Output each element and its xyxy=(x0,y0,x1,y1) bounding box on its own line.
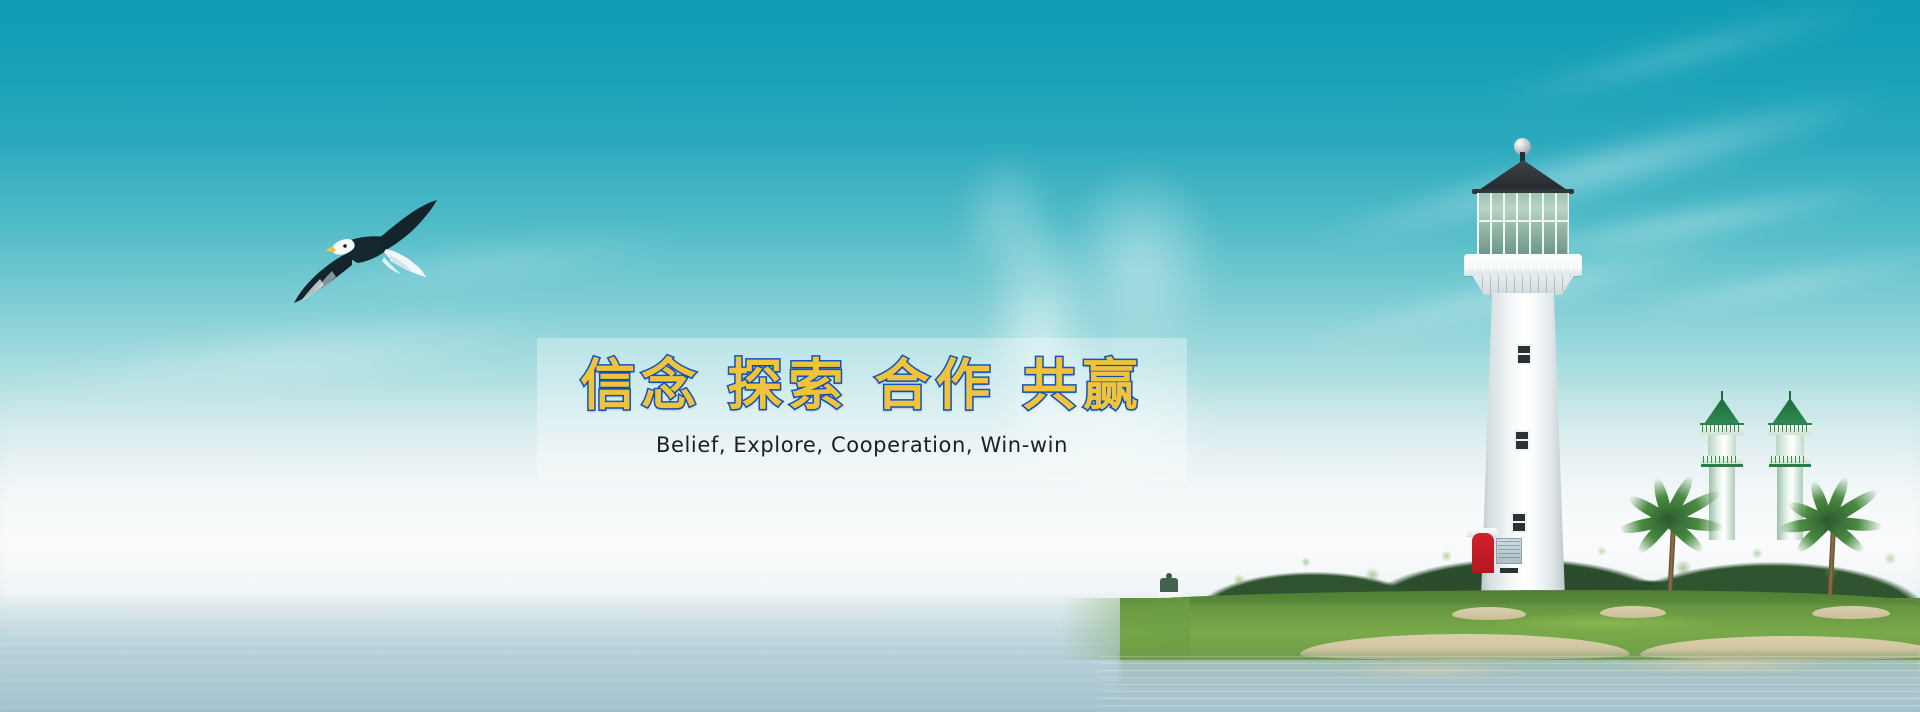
distant-lighthouse-lantern xyxy=(1160,578,1178,593)
main-lighthouse xyxy=(1428,138,1618,626)
minaret-roof xyxy=(1704,398,1740,424)
palm-left xyxy=(1610,470,1730,620)
minaret-spike xyxy=(1721,391,1723,399)
slogan-subline: Belief, Explore, Cooperation, Win-win xyxy=(656,433,1068,457)
lighthouse-corbel-ribs xyxy=(1474,275,1572,295)
lighthouse-plaque-text xyxy=(1498,541,1520,561)
lighthouse-window xyxy=(1516,344,1532,365)
minaret-upper-railing xyxy=(1702,423,1742,432)
bunker-foreground xyxy=(1300,634,1630,660)
distant-lighthouse xyxy=(1156,578,1182,656)
water-reflection-sheen xyxy=(1100,656,1920,712)
slogan-headline: 信念 探索 合作 共赢 xyxy=(580,357,1143,415)
lighthouse-railing xyxy=(1466,255,1580,270)
lighthouse-window xyxy=(1511,512,1527,533)
lighthouse-vent xyxy=(1500,568,1518,573)
palm-right xyxy=(1770,472,1890,622)
minaret-spike xyxy=(1789,391,1791,399)
minaret-midsection xyxy=(1776,435,1804,457)
minaret-upper-railing xyxy=(1770,423,1810,432)
minaret-lower-railing xyxy=(1703,456,1739,463)
minaret-roof xyxy=(1772,398,1808,424)
lighthouse-window xyxy=(1514,430,1530,451)
bunker-reflection xyxy=(1560,652,1890,678)
hero-banner: 信念 探索 合作 共赢 Belief, Explore, Cooperation… xyxy=(0,0,1920,712)
eagle-icon xyxy=(290,195,440,315)
lighthouse-lantern-horizontal-bar xyxy=(1477,220,1569,222)
bunker-reflection-left xyxy=(1290,658,1570,682)
minaret-midsection xyxy=(1708,435,1736,457)
distant-lighthouse-window xyxy=(1161,624,1164,628)
lighthouse-door xyxy=(1472,533,1494,573)
bunker-foreground-right xyxy=(1640,636,1920,660)
lighthouse-lantern-glazing-bars xyxy=(1477,193,1569,255)
distant-lighthouse-tower xyxy=(1162,597,1176,652)
water-reflection xyxy=(1120,652,1920,712)
distant-lighthouse-window xyxy=(1161,640,1164,644)
lighthouse-railing-top-rail xyxy=(1466,254,1580,256)
lighthouse-tower xyxy=(1480,293,1566,626)
distant-lighthouse-window xyxy=(1161,608,1164,612)
lighthouse-roof xyxy=(1476,160,1570,192)
slogan-panel: 信念 探索 合作 共赢 Belief, Explore, Cooperation… xyxy=(537,338,1187,482)
minaret-lower-railing xyxy=(1771,456,1807,463)
water-ripples xyxy=(0,616,1920,712)
